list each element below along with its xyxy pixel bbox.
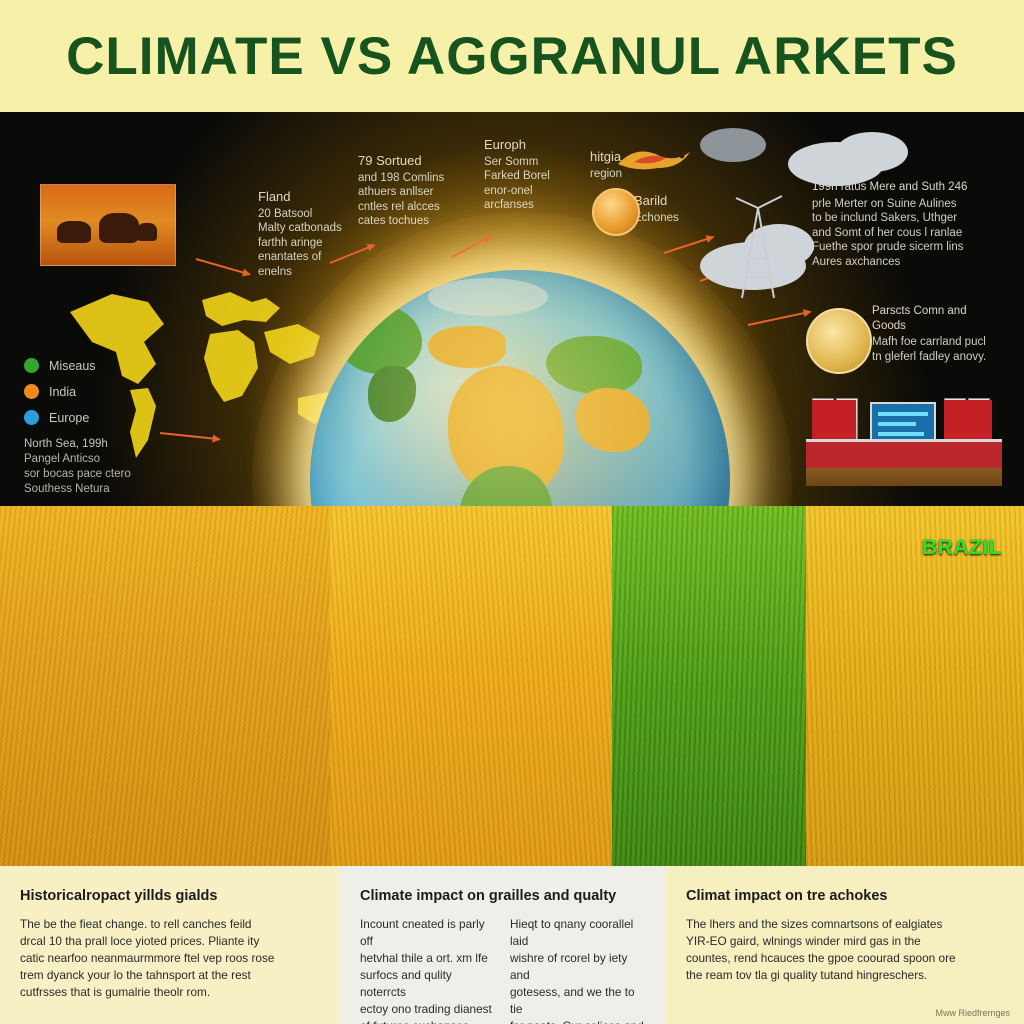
legend-item: Europe xyxy=(24,410,224,425)
commodity-callout: Parscts Comn and Goods Mafh foe carrland… xyxy=(872,304,1002,364)
callout-body: region xyxy=(590,168,622,180)
transmission-tower-icon xyxy=(716,192,802,302)
page-title: CLIMATE VS AGGRANUL ARKETS xyxy=(66,26,958,87)
historical-yields-panel: Historicalropact yillds gialds The be th… xyxy=(0,866,340,1024)
legend-item: Miseaus xyxy=(24,358,224,373)
callout-heading: 199h ratus Mere and Suth 246 xyxy=(812,180,1004,195)
flow-arrow xyxy=(160,432,220,440)
callout-body: and 198 Comlins athuers anllser cntles r… xyxy=(358,172,444,228)
grain-quality-panel: Climate impact on grailles and qualty In… xyxy=(340,866,666,1024)
field-dry-wheat xyxy=(0,506,340,866)
drought-callout: Fland 20 Batsool Malty catbonads farthh … xyxy=(258,190,350,279)
legend-item-label: Europe xyxy=(49,411,89,425)
legend: Miseaus India Europe North Sea, 199h Pan… xyxy=(24,358,224,497)
sun-glow xyxy=(252,212,792,542)
flow-arrow xyxy=(452,235,492,257)
world-map-graphic xyxy=(52,272,352,472)
flow-arrow xyxy=(330,244,375,264)
brazil-label: BRAZIL xyxy=(922,536,1002,560)
cargo-ship-graphic xyxy=(806,374,1002,486)
panel-heading: Historicalropact yillds gialds xyxy=(20,888,320,904)
earth-globe xyxy=(310,270,730,542)
legend-color-swatch xyxy=(24,410,39,425)
flow-arrow xyxy=(700,257,763,281)
callout-heading: Europh xyxy=(484,138,576,153)
legend-item: India xyxy=(24,384,224,399)
field-golden-wheat xyxy=(330,506,620,866)
bottom-panels: Historicalropact yillds gialds The be th… xyxy=(0,866,1024,1024)
panel-body-left: Incount cneated is parly off hetvhal thi… xyxy=(360,916,496,1024)
legend-color-swatch xyxy=(24,358,39,373)
bird-icon xyxy=(614,142,694,182)
callout-body: Echones xyxy=(634,212,679,224)
panel-heading: Climat impact on tre achokes xyxy=(686,888,1004,904)
flow-arrow xyxy=(748,311,811,326)
emissions-callout: 79 Sortued and 198 Comlins athuers anlls… xyxy=(358,154,458,229)
globe-icon xyxy=(592,188,640,236)
legend-color-swatch xyxy=(24,384,39,399)
panel-heading: Climate impact on grailles and qualty xyxy=(360,888,646,904)
savanna-thumbnail xyxy=(40,184,176,266)
callout-body: Mafh foe carrland pucl tn gleferl fadley… xyxy=(872,336,986,363)
legend-note: North Sea, 199h Pangel Anticso sor bocas… xyxy=(24,437,224,497)
legend-item-label: Miseaus xyxy=(49,359,96,373)
panel-body-right: Hieqt to qnany coorallel laid wishre of … xyxy=(510,916,646,1024)
panel-body: The lhers and the sizes comnartsons of e… xyxy=(686,916,1004,984)
ship-display-panel xyxy=(870,402,936,442)
infographic-page: CLIMATE VS AGGRANUL ARKETS Miseaus xyxy=(0,0,1024,1024)
callout-heading: Parscts Comn and Goods xyxy=(872,304,1002,333)
callout-heading: hitgia xyxy=(590,150,652,165)
europe-callout: Europh Ser Somm Farked Borel enor-onel a… xyxy=(484,138,576,213)
trade-choices-panel: Climat impact on tre achokes The lhers a… xyxy=(666,866,1024,1024)
callout-heading: 79 Sortued xyxy=(358,154,458,169)
fields-section xyxy=(0,506,1024,866)
flow-arrow xyxy=(664,236,714,254)
title-banner: CLIMATE VS AGGRANUL ARKETS xyxy=(0,0,1024,112)
callout-body: Ser Somm Farked Borel enor-onel arcfanse… xyxy=(484,156,550,212)
migration-callout: hitgia region xyxy=(590,150,652,181)
legend-note-body: Pangel Anticso sor bocas pace ctero Sout… xyxy=(24,453,131,495)
cloud-icon xyxy=(700,242,806,290)
callout-body: 20 Batsool Malty catbonads farthh aringe… xyxy=(258,208,342,278)
legend-note-heading: North Sea, 199h xyxy=(24,437,224,452)
world-echoes-callout: Barild Echones xyxy=(634,194,706,225)
flow-arrow xyxy=(196,258,250,275)
callout-body: prle Merter on Suine Aulines to be inclu… xyxy=(812,198,963,268)
cloud-icon xyxy=(836,132,908,172)
storm-cloud-icon xyxy=(700,128,766,162)
panel-credit: Mww Riedfrernges xyxy=(935,1008,1010,1018)
grain-coin-icon xyxy=(806,308,872,374)
north-america-callout: 199h ratus Mere and Suth 246 prle Merter… xyxy=(812,180,1004,269)
panel-body: The be the fieat change. to rell canches… xyxy=(20,916,320,1001)
upper-scene: Miseaus India Europe North Sea, 199h Pan… xyxy=(0,112,1024,542)
legend-item-label: India xyxy=(49,385,76,399)
callout-heading: Barild xyxy=(634,194,706,209)
callout-heading: Fland xyxy=(258,190,350,205)
field-green-crop xyxy=(612,506,812,866)
cloud-icon xyxy=(788,142,884,186)
cloud-icon xyxy=(744,224,814,268)
field-ripe-wheat xyxy=(806,506,1024,866)
